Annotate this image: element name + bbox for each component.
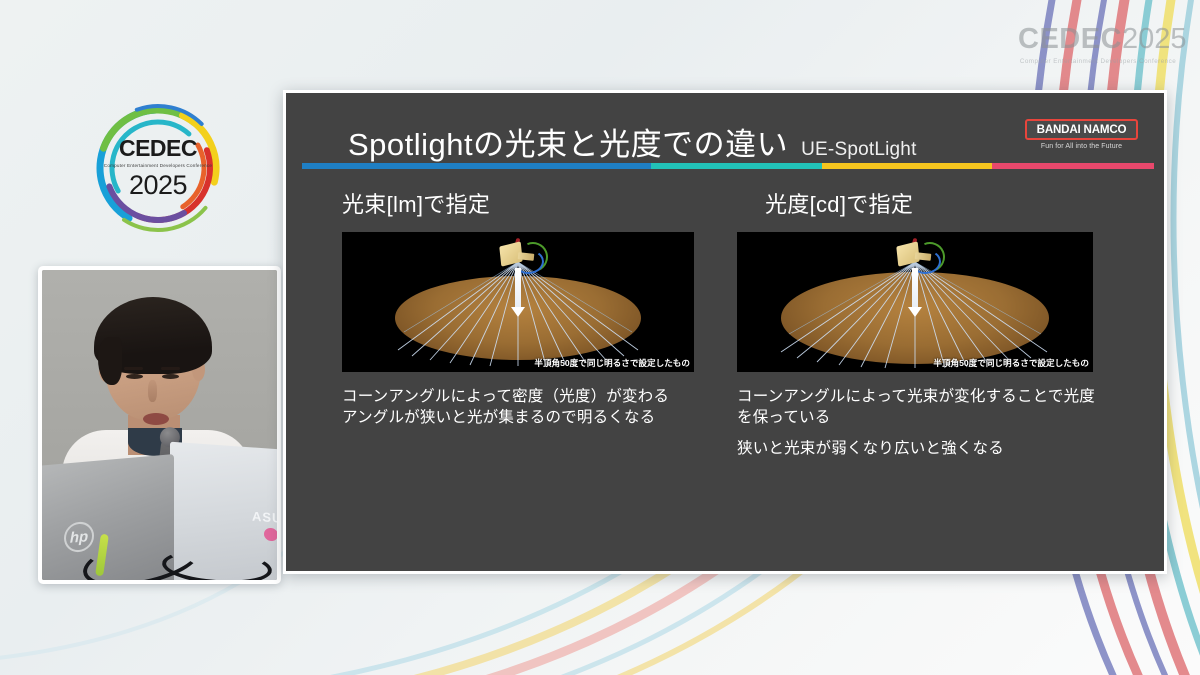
bandai-namco-box: BANDAI NAMCO: [1025, 119, 1138, 140]
accent-bar-segment-1: [651, 163, 821, 169]
cedec-top-tagline: Computer Entertainment Developers Confer…: [1018, 58, 1178, 65]
speaker-nose: [148, 380, 157, 402]
cedec-top-name: CEDEC: [1018, 23, 1122, 55]
accent-bar-segment-0: [302, 163, 651, 169]
presentation-slide: Spotlightの光束と光度での違い UE-SpotLight BANDAI …: [283, 90, 1167, 574]
bandai-namco-name: BANDAI NAMCO: [1027, 123, 1136, 136]
cedec-badge-logo: CEDEC Computer Entertainment Developers …: [92, 102, 224, 234]
accent-bar-segment-2: [822, 163, 992, 169]
column-body-left: コーンアングルによって密度（光度）が変わる アングルが狭いと光が集まるので明るく…: [342, 386, 725, 429]
speaker-eyebrow-right: [161, 367, 180, 370]
direction-arrow-right: [912, 268, 918, 308]
bandai-namco-logo: BANDAI NAMCO Fun for All into the Future: [1025, 119, 1138, 150]
body-line: コーンアングルによって密度（光度）が変わる: [342, 386, 725, 407]
slide-columns: 光束[lm]で指定: [286, 187, 1164, 459]
body-line: アングルが狭いと光が集まるので明るくなる: [342, 407, 725, 428]
column-heading-right: 光度[cd]で指定: [737, 187, 1164, 219]
column-body-right: コーンアングルによって光束が変化することで光度を保っている 狭いと光束が弱くなり…: [737, 386, 1164, 459]
speaker-eye-left: [126, 374, 143, 379]
column-luminous-flux: 光束[lm]で指定: [286, 187, 725, 459]
spotlight-render-left: 半頂角50度で同じ明るさで設定したもの: [342, 232, 694, 372]
slide-content: Spotlightの光束と光度での違い UE-SpotLight BANDAI …: [286, 93, 1164, 571]
accent-bar: [302, 163, 1154, 169]
speaker-video-frame: ASUS hp: [42, 270, 277, 580]
render-caption-left: 半頂角50度で同じ明るさで設定したもの: [534, 357, 690, 369]
badge-tagline: Computer Entertainment Developers Confer…: [104, 163, 212, 168]
direction-arrow-left: [515, 268, 521, 308]
bandai-namco-tagline: Fun for All into the Future: [1025, 143, 1138, 150]
laptop-right-brand: ASUS: [252, 509, 277, 527]
spotlight-render-right: 半頂角50度で同じ明るさで設定したもの: [737, 232, 1093, 372]
speaker-eyebrow-left: [124, 367, 143, 370]
speaker-eye-right: [162, 374, 179, 379]
cedec-top-logo: CEDEC2025 Computer Entertainment Develop…: [1018, 25, 1178, 65]
spotlight-gizmo-left: [500, 244, 530, 270]
spotlight-gizmo-right: [897, 244, 927, 270]
column-heading-left: 光束[lm]で指定: [342, 187, 725, 219]
badge-year: 2025: [129, 172, 187, 199]
column-luminous-intensity: 光度[cd]で指定: [725, 187, 1164, 459]
speaker-video-panel[interactable]: ASUS hp: [38, 266, 281, 584]
slide-title: Spotlightの光束と光度での違い: [348, 119, 788, 164]
badge-name: CEDEC: [119, 137, 197, 160]
laptop-sticker: [264, 528, 277, 542]
body-line: 狭いと光束が弱くなり広いと強くなる: [737, 438, 1097, 459]
accent-bar-segment-3: [992, 163, 1154, 169]
screen: CEDEC2025 Computer Entertainment Develop…: [0, 0, 1200, 675]
render-caption-right: 半頂角50度で同じ明るさで設定したもの: [933, 357, 1089, 369]
body-line: コーンアングルによって光束が変化することで光度を保っている: [737, 386, 1097, 429]
cedec-top-year: 2025: [1122, 23, 1187, 55]
slide-subtitle: UE-SpotLight: [801, 139, 916, 161]
speaker-mouth: [143, 413, 169, 425]
